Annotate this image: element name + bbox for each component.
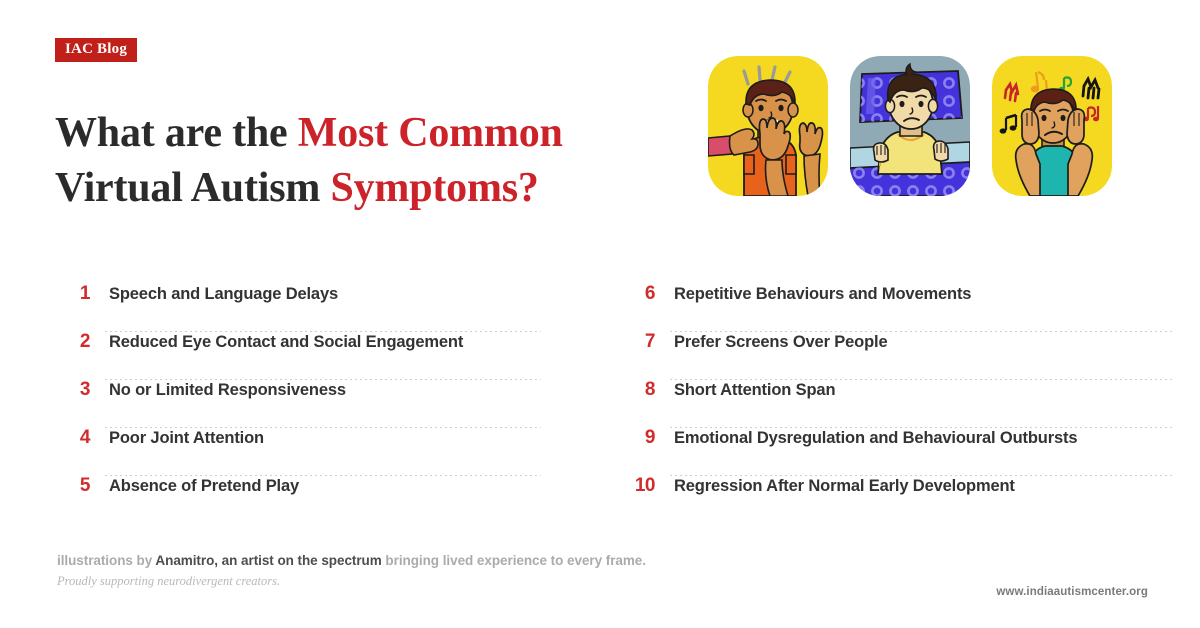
illustration-card-child-covering-ears bbox=[992, 56, 1112, 196]
blog-badge: IAC Blog bbox=[55, 38, 137, 62]
child-awake-in-bed-icon bbox=[850, 56, 970, 196]
list-item[interactable]: 2 Reduced Eye Contact and Social Engagem… bbox=[55, 332, 580, 379]
credit-post: bringing lived experience to every frame… bbox=[382, 553, 646, 568]
list-item-label: Poor Joint Attention bbox=[109, 430, 264, 447]
list-item[interactable]: 9 Emotional Dysregulation and Behavioura… bbox=[620, 428, 1145, 475]
list-item[interactable]: 7 Prefer Screens Over People bbox=[620, 332, 1145, 379]
list-item-number: 4 bbox=[55, 428, 90, 447]
headline-line1-accent: Most Common bbox=[298, 110, 563, 156]
list-item-label: No or Limited Responsiveness bbox=[109, 382, 346, 399]
list-item-label: Emotional Dysregulation and Behavioural … bbox=[674, 430, 1077, 447]
list-item[interactable]: 6 Repetitive Behaviours and Movements bbox=[620, 284, 1145, 331]
illustration-row bbox=[708, 56, 1148, 196]
list-item[interactable]: 3 No or Limited Responsiveness bbox=[55, 380, 580, 427]
illustration-card-child-awake-in-bed bbox=[850, 56, 970, 196]
list-item-number: 2 bbox=[55, 332, 90, 351]
list-item-label: Regression After Normal Early Developmen… bbox=[674, 478, 1015, 495]
symptom-column-right: 6 Repetitive Behaviours and Movements 7 … bbox=[620, 284, 1145, 523]
list-item[interactable]: 4 Poor Joint Attention bbox=[55, 428, 580, 475]
list-item-number: 5 bbox=[55, 476, 90, 495]
list-item-label: Absence of Pretend Play bbox=[109, 478, 299, 495]
list-item-label: Prefer Screens Over People bbox=[674, 334, 887, 351]
list-item-number: 1 bbox=[55, 284, 90, 303]
list-item-number: 6 bbox=[620, 284, 655, 303]
headline-line1-plain: What are the bbox=[55, 110, 298, 156]
list-item-number: 8 bbox=[620, 380, 655, 399]
list-item-number: 3 bbox=[55, 380, 90, 399]
credit-artist: Anamitro, an artist on the spectrum bbox=[155, 553, 381, 568]
headline-line2-plain: Virtual Autism bbox=[55, 165, 330, 211]
headline-line2-accent: Symptoms? bbox=[330, 165, 538, 211]
support-tagline: Proudly supporting neurodivergent creato… bbox=[57, 574, 280, 589]
list-item-number: 9 bbox=[620, 428, 655, 447]
symptom-list: 1 Speech and Language Delays 2 Reduced E… bbox=[55, 284, 1145, 523]
page-title: What are the Most Common Virtual Autism … bbox=[55, 106, 695, 215]
list-item-label: Short Attention Span bbox=[674, 382, 835, 399]
website-url[interactable]: www.indiaautismcenter.org bbox=[996, 586, 1148, 598]
list-item[interactable]: 5 Absence of Pretend Play bbox=[55, 476, 580, 523]
list-item-number: 10 bbox=[620, 476, 655, 495]
list-item[interactable]: 8 Short Attention Span bbox=[620, 380, 1145, 427]
child-covering-ears-icon bbox=[992, 56, 1112, 196]
child-overwhelmed-hands-up-icon bbox=[708, 56, 828, 196]
list-item[interactable]: 1 Speech and Language Delays bbox=[55, 284, 580, 331]
list-item-number: 7 bbox=[620, 332, 655, 351]
list-item-label: Reduced Eye Contact and Social Engagemen… bbox=[109, 334, 463, 351]
credit-pre: illustrations by bbox=[57, 553, 155, 568]
list-item-label: Repetitive Behaviours and Movements bbox=[674, 286, 971, 303]
list-item[interactable]: 10 Regression After Normal Early Develop… bbox=[620, 476, 1145, 523]
infographic-page: IAC Blog What are the Most Common Virtua… bbox=[0, 0, 1200, 628]
illustration-credit: illustrations by Anamitro, an artist on … bbox=[57, 553, 646, 568]
illustration-card-child-overwhelmed-hands-up bbox=[708, 56, 828, 196]
list-item-label: Speech and Language Delays bbox=[109, 286, 338, 303]
symptom-column-left: 1 Speech and Language Delays 2 Reduced E… bbox=[55, 284, 580, 523]
